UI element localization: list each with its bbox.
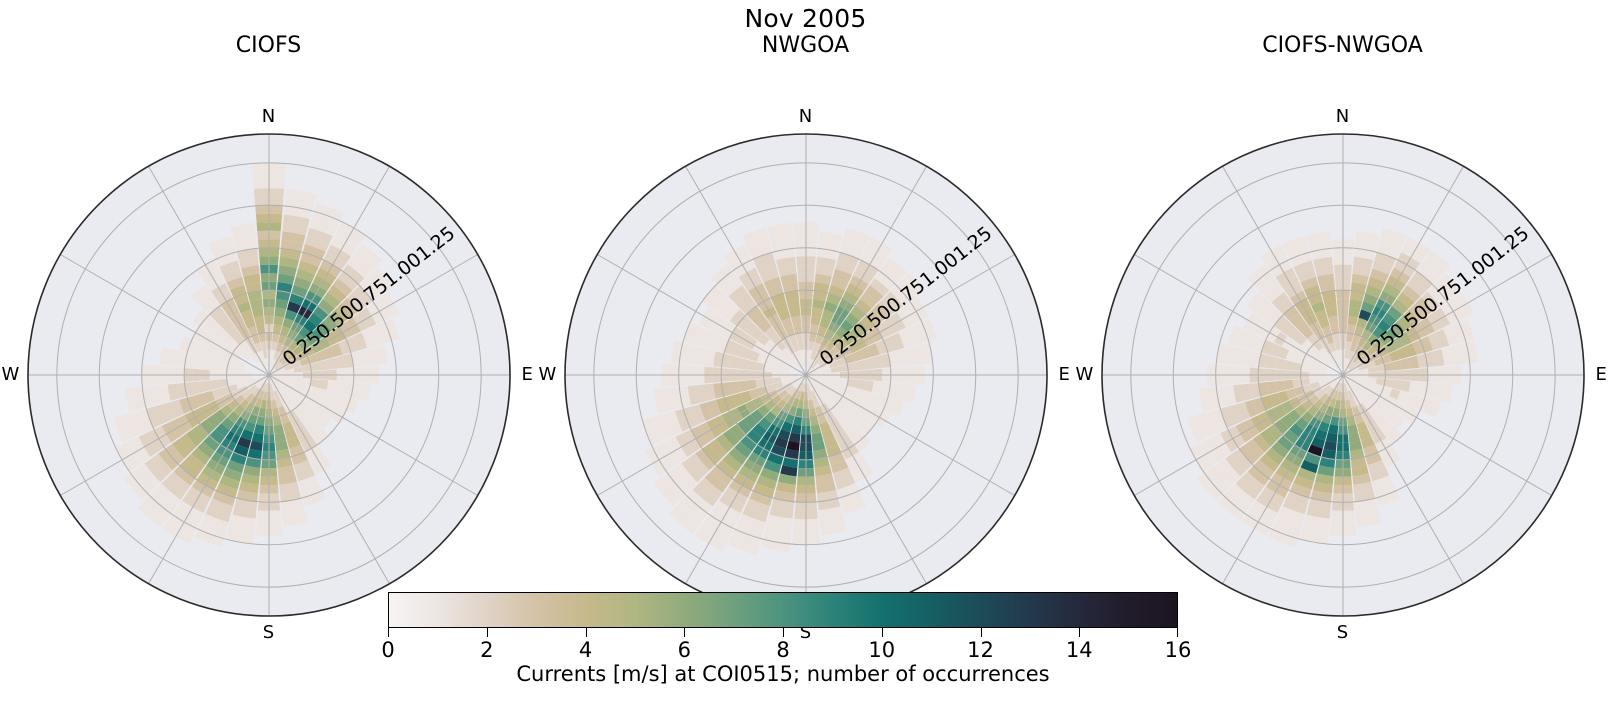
panel-ciofs-nwgoa: CIOFS-NWGOA 0.250.500.751.001.25NSWE: [1074, 0, 1611, 600]
polar-rose-chart: 0.250.500.751.001.25: [519, 88, 1093, 662]
colorbar-ticks: [388, 628, 1178, 638]
colorbar-caption: Currents [m/s] at COI0515; number of occ…: [388, 662, 1178, 686]
colorbar-tick-label: 8: [776, 638, 789, 662]
colorbar-tick: [783, 628, 784, 637]
colorbar-tick-label: 16: [1165, 638, 1192, 662]
panel-title: CIOFS: [0, 33, 537, 58]
colorbar-tick: [1079, 628, 1080, 637]
colorbar-tick-label: 0: [381, 638, 394, 662]
colorbar-tick: [882, 628, 883, 637]
panel-ciofs: CIOFS 0.250.500.751.001.25NSWE: [0, 0, 537, 600]
polar-plot-area: 0.250.500.751.001.25NSWE: [519, 88, 1093, 662]
colorbar-tick: [684, 628, 685, 637]
colorbar-tick-label: 10: [868, 638, 895, 662]
compass-label-north: N: [1336, 108, 1349, 126]
polar-rose-chart: 0.250.500.751.001.25: [1056, 88, 1611, 662]
panel-nwgoa: NWGOA 0.250.500.751.001.25NSWE: [537, 0, 1074, 600]
compass-label-south: S: [263, 624, 274, 642]
colorbar-tick-label: 14: [1066, 638, 1093, 662]
compass-label-north: N: [262, 108, 275, 126]
colorbar-tick-label: 6: [678, 638, 691, 662]
colorbar-tick-label: 4: [579, 638, 592, 662]
colorbar-gradient: [388, 592, 1178, 628]
colorbar-legend: 0246810121416 Currents [m/s] at COI0515;…: [388, 592, 1178, 666]
panel-title: NWGOA: [537, 33, 1074, 58]
compass-label-north: N: [799, 108, 812, 126]
compass-label-west: W: [1076, 366, 1094, 384]
colorbar-tick: [1177, 628, 1178, 637]
colorbar-tick: [487, 628, 488, 637]
polar-plot-area: 0.250.500.751.001.25NSWE: [0, 88, 556, 662]
colorbar-tick: [388, 628, 389, 637]
figure-canvas: Nov 2005 CIOFS 0.250.500.751.001.25NSWE …: [0, 0, 1611, 724]
colorbar-tick-label: 12: [967, 638, 994, 662]
polar-plot-area: 0.250.500.751.001.25NSWE: [1056, 88, 1611, 662]
compass-label-south: S: [1337, 624, 1348, 642]
compass-label-east: E: [1596, 366, 1607, 384]
compass-label-west: W: [2, 366, 20, 384]
colorbar-tick: [586, 628, 587, 637]
colorbar-tick: [981, 628, 982, 637]
colorbar-tick-label: 2: [480, 638, 493, 662]
panel-title: CIOFS-NWGOA: [1074, 33, 1611, 58]
compass-label-west: W: [539, 366, 557, 384]
polar-rose-chart: 0.250.500.751.001.25: [0, 88, 556, 662]
